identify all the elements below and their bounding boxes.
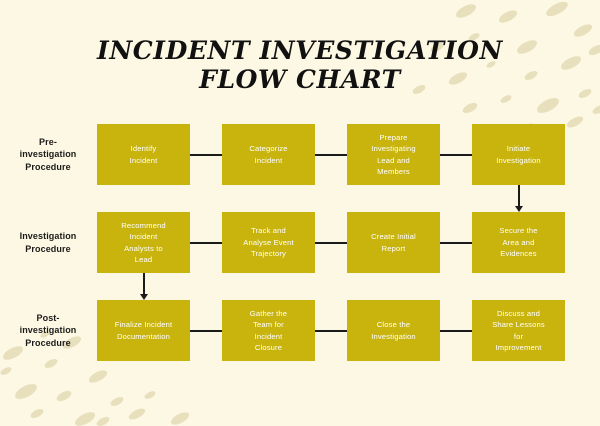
connector-h-r0-2 [440, 154, 472, 156]
flow-node-label-line: Analyse Event [243, 237, 294, 249]
flow-node-r1-c0[interactable]: RecommendIncidentAnalysts toLead [97, 212, 190, 273]
flow-node-label-line: Trajectory [243, 248, 294, 260]
flow-node-label: Discuss andShare LessonsforImprovement [492, 308, 545, 354]
flow-node-label-line: Report [371, 243, 416, 255]
row-label-line: Procedure [5, 243, 91, 256]
row-label-2: Post-investigationProcedure [5, 312, 91, 350]
flow-node-label: InitiateInvestigation [496, 143, 541, 166]
flow-node-label-line: Incident [130, 155, 158, 167]
flow-node-label-line: Recommend [121, 220, 165, 232]
flow-node-label-line: Improvement [492, 342, 545, 354]
flow-node-label: IdentifyIncident [130, 143, 158, 166]
flow-node-r0-c3[interactable]: InitiateInvestigation [472, 124, 565, 185]
flow-node-r2-c2[interactable]: Close theInvestigation [347, 300, 440, 361]
flow-node-r2-c0[interactable]: Finalize IncidentDocumentation [97, 300, 190, 361]
flow-node-label: Create InitialReport [371, 231, 416, 254]
flow-node-r0-c1[interactable]: CategorizeIncident [222, 124, 315, 185]
row-label-line: Post- [5, 312, 91, 325]
flow-node-r1-c1[interactable]: Track andAnalyse EventTrajectory [222, 212, 315, 273]
arrow-head-icon-1 [140, 294, 148, 300]
connector-h-r2-2 [440, 330, 472, 332]
flow-node-label-line: for [492, 331, 545, 343]
flow-node-label-line: Close the [371, 319, 416, 331]
row-label-line: Procedure [5, 337, 91, 350]
connector-h-r2-1 [315, 330, 347, 332]
flow-node-r2-c1[interactable]: Gather theTeam forIncidentClosure [222, 300, 315, 361]
flow-node-r2-c3[interactable]: Discuss andShare LessonsforImprovement [472, 300, 565, 361]
flow-node-label-line: Discuss and [492, 308, 545, 320]
flow-node-label-line: Track and [243, 225, 294, 237]
connector-h-r1-1 [315, 242, 347, 244]
row-label-0: Pre-investigationProcedure [5, 136, 91, 174]
flow-node-label-line: Share Lessons [492, 319, 545, 331]
flow-node-label-line: Gather the [250, 308, 287, 320]
flow-node-label: Track andAnalyse EventTrajectory [243, 225, 294, 260]
flow-node-label: Finalize IncidentDocumentation [115, 319, 172, 342]
flow-node-r0-c2[interactable]: PrepareInvestigatingLead andMembers [347, 124, 440, 185]
flow-node-label-line: Area and [499, 237, 537, 249]
flow-node-label-line: Incident [121, 231, 165, 243]
flowchart-canvas: INCIDENT INVESTIGATION FLOW CHART Pre-in… [0, 0, 600, 426]
flow-node-label-line: Incident [250, 331, 287, 343]
row-label-1: InvestigationProcedure [5, 230, 91, 255]
flow-node-label-line: Members [371, 166, 416, 178]
flow-node-label-line: Lead and [371, 155, 416, 167]
page-title: INCIDENT INVESTIGATION FLOW CHART [0, 36, 600, 94]
flow-node-label-line: Lead [121, 254, 165, 266]
flow-node-label-line: Evidences [499, 248, 537, 260]
flow-node-r0-c0[interactable]: IdentifyIncident [97, 124, 190, 185]
connector-h-r0-1 [315, 154, 347, 156]
connector-h-r1-0 [190, 242, 222, 244]
flow-node-label-line: Incident [249, 155, 287, 167]
flow-node-label-line: Analysts to [121, 243, 165, 255]
flow-node-label-line: Prepare [371, 132, 416, 144]
flow-node-label-line: Team for [250, 319, 287, 331]
flow-node-label-line: Closure [250, 342, 287, 354]
flow-node-label: RecommendIncidentAnalysts toLead [121, 220, 165, 266]
row-label-line: investigation [5, 148, 91, 161]
arrow-head-icon-0 [515, 206, 523, 212]
flow-node-label-line: Investigation [496, 155, 541, 167]
flow-node-label-line: Categorize [249, 143, 287, 155]
title-line-2: FLOW CHART [0, 65, 600, 94]
flow-node-label-line: Initiate [496, 143, 541, 155]
connector-v-1 [143, 273, 145, 295]
flow-node-label-line: Finalize Incident [115, 319, 172, 331]
flow-node-label: Gather theTeam forIncidentClosure [250, 308, 287, 354]
connector-v-0 [518, 185, 520, 207]
flow-node-label-line: Secure the [499, 225, 537, 237]
flow-node-label-line: Investigating [371, 143, 416, 155]
flow-node-label-line: Identify [130, 143, 158, 155]
connector-h-r1-2 [440, 242, 472, 244]
row-label-line: Procedure [5, 161, 91, 174]
row-label-line: investigation [5, 324, 91, 337]
flow-node-label: CategorizeIncident [249, 143, 287, 166]
flow-node-label: PrepareInvestigatingLead andMembers [371, 132, 416, 178]
title-line-1: INCIDENT INVESTIGATION [0, 36, 600, 65]
connector-h-r0-0 [190, 154, 222, 156]
flow-node-label-line: Create Initial [371, 231, 416, 243]
flow-node-label: Secure theArea andEvidences [499, 225, 537, 260]
flow-node-label-line: Investigation [371, 331, 416, 343]
connector-h-r2-0 [190, 330, 222, 332]
flow-node-label-line: Documentation [115, 331, 172, 343]
row-label-line: Investigation [5, 230, 91, 243]
flow-node-r1-c3[interactable]: Secure theArea andEvidences [472, 212, 565, 273]
flow-node-r1-c2[interactable]: Create InitialReport [347, 212, 440, 273]
row-label-line: Pre- [5, 136, 91, 149]
flow-node-label: Close theInvestigation [371, 319, 416, 342]
